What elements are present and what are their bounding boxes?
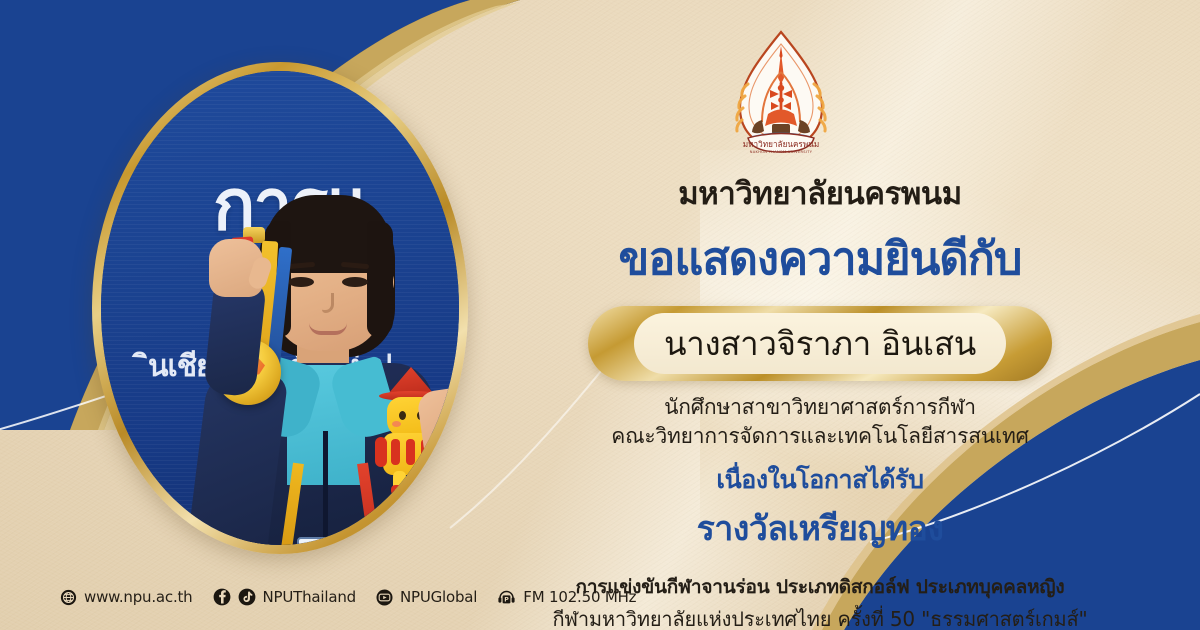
recipient-major: นักศึกษาสาขาวิทยาศาสตร์การกีฬา (664, 393, 976, 422)
content-column: มหาวิทยาลัยนครพนม ขอแสดงความยินดีกับ นาง… (520, 0, 1120, 630)
radio-frequency-label: FM 102.50 MHz (523, 588, 636, 606)
globe-icon (60, 589, 77, 606)
social-handle-label[interactable]: NPUThailand (263, 588, 356, 606)
recipient-faculty: คณะวิทยาการจัดการและเทคโนโลยีสารสนเทศ (611, 422, 1029, 451)
id-badge (297, 537, 371, 545)
student-photo: การแ ินเชียร์ ทยาลัยแห่งป (92, 62, 468, 554)
youtube-icon[interactable] (376, 589, 393, 606)
svg-text:P: P (504, 596, 509, 603)
award-games: กีฬามหาวิทยาลัยแห่งประเทศไทย ครั้งที่ 50… (552, 605, 1087, 630)
recipient-name: นางสาวจิราภา อินเสน (634, 313, 1006, 374)
youtube-handle-label[interactable]: NPUGlobal (400, 588, 477, 606)
award-title: รางวัลเหรียญทอง (697, 501, 944, 555)
congrats-heading: ขอแสดงความยินดีกับ (619, 222, 1022, 294)
university-name: มหาวิทยาลัยนครพนม (678, 168, 962, 218)
facebook-icon[interactable] (213, 588, 231, 606)
person-figure (101, 71, 459, 545)
award-event: การแข่งขันกีฬาจานร่อน ประเภทดิสกอล์ฟ ประ… (576, 572, 1065, 602)
tiktok-icon[interactable] (238, 588, 256, 606)
footer-contact-bar: www.npu.ac.th NPUThailand NPUGlobal (60, 588, 636, 606)
banner-canvas: การแ ินเชียร์ ทยาลัยแห่งป (0, 0, 1200, 630)
photo-clip: การแ ินเชียร์ ทยาลัยแห่งป (101, 71, 459, 545)
recipient-name-pill: นางสาวจิราภา อินเสน (588, 306, 1052, 381)
award-occasion: เนื่องในโอกาสได้รับ (716, 460, 923, 500)
radio-icon: P (497, 589, 516, 606)
website-label[interactable]: www.npu.ac.th (84, 588, 193, 606)
